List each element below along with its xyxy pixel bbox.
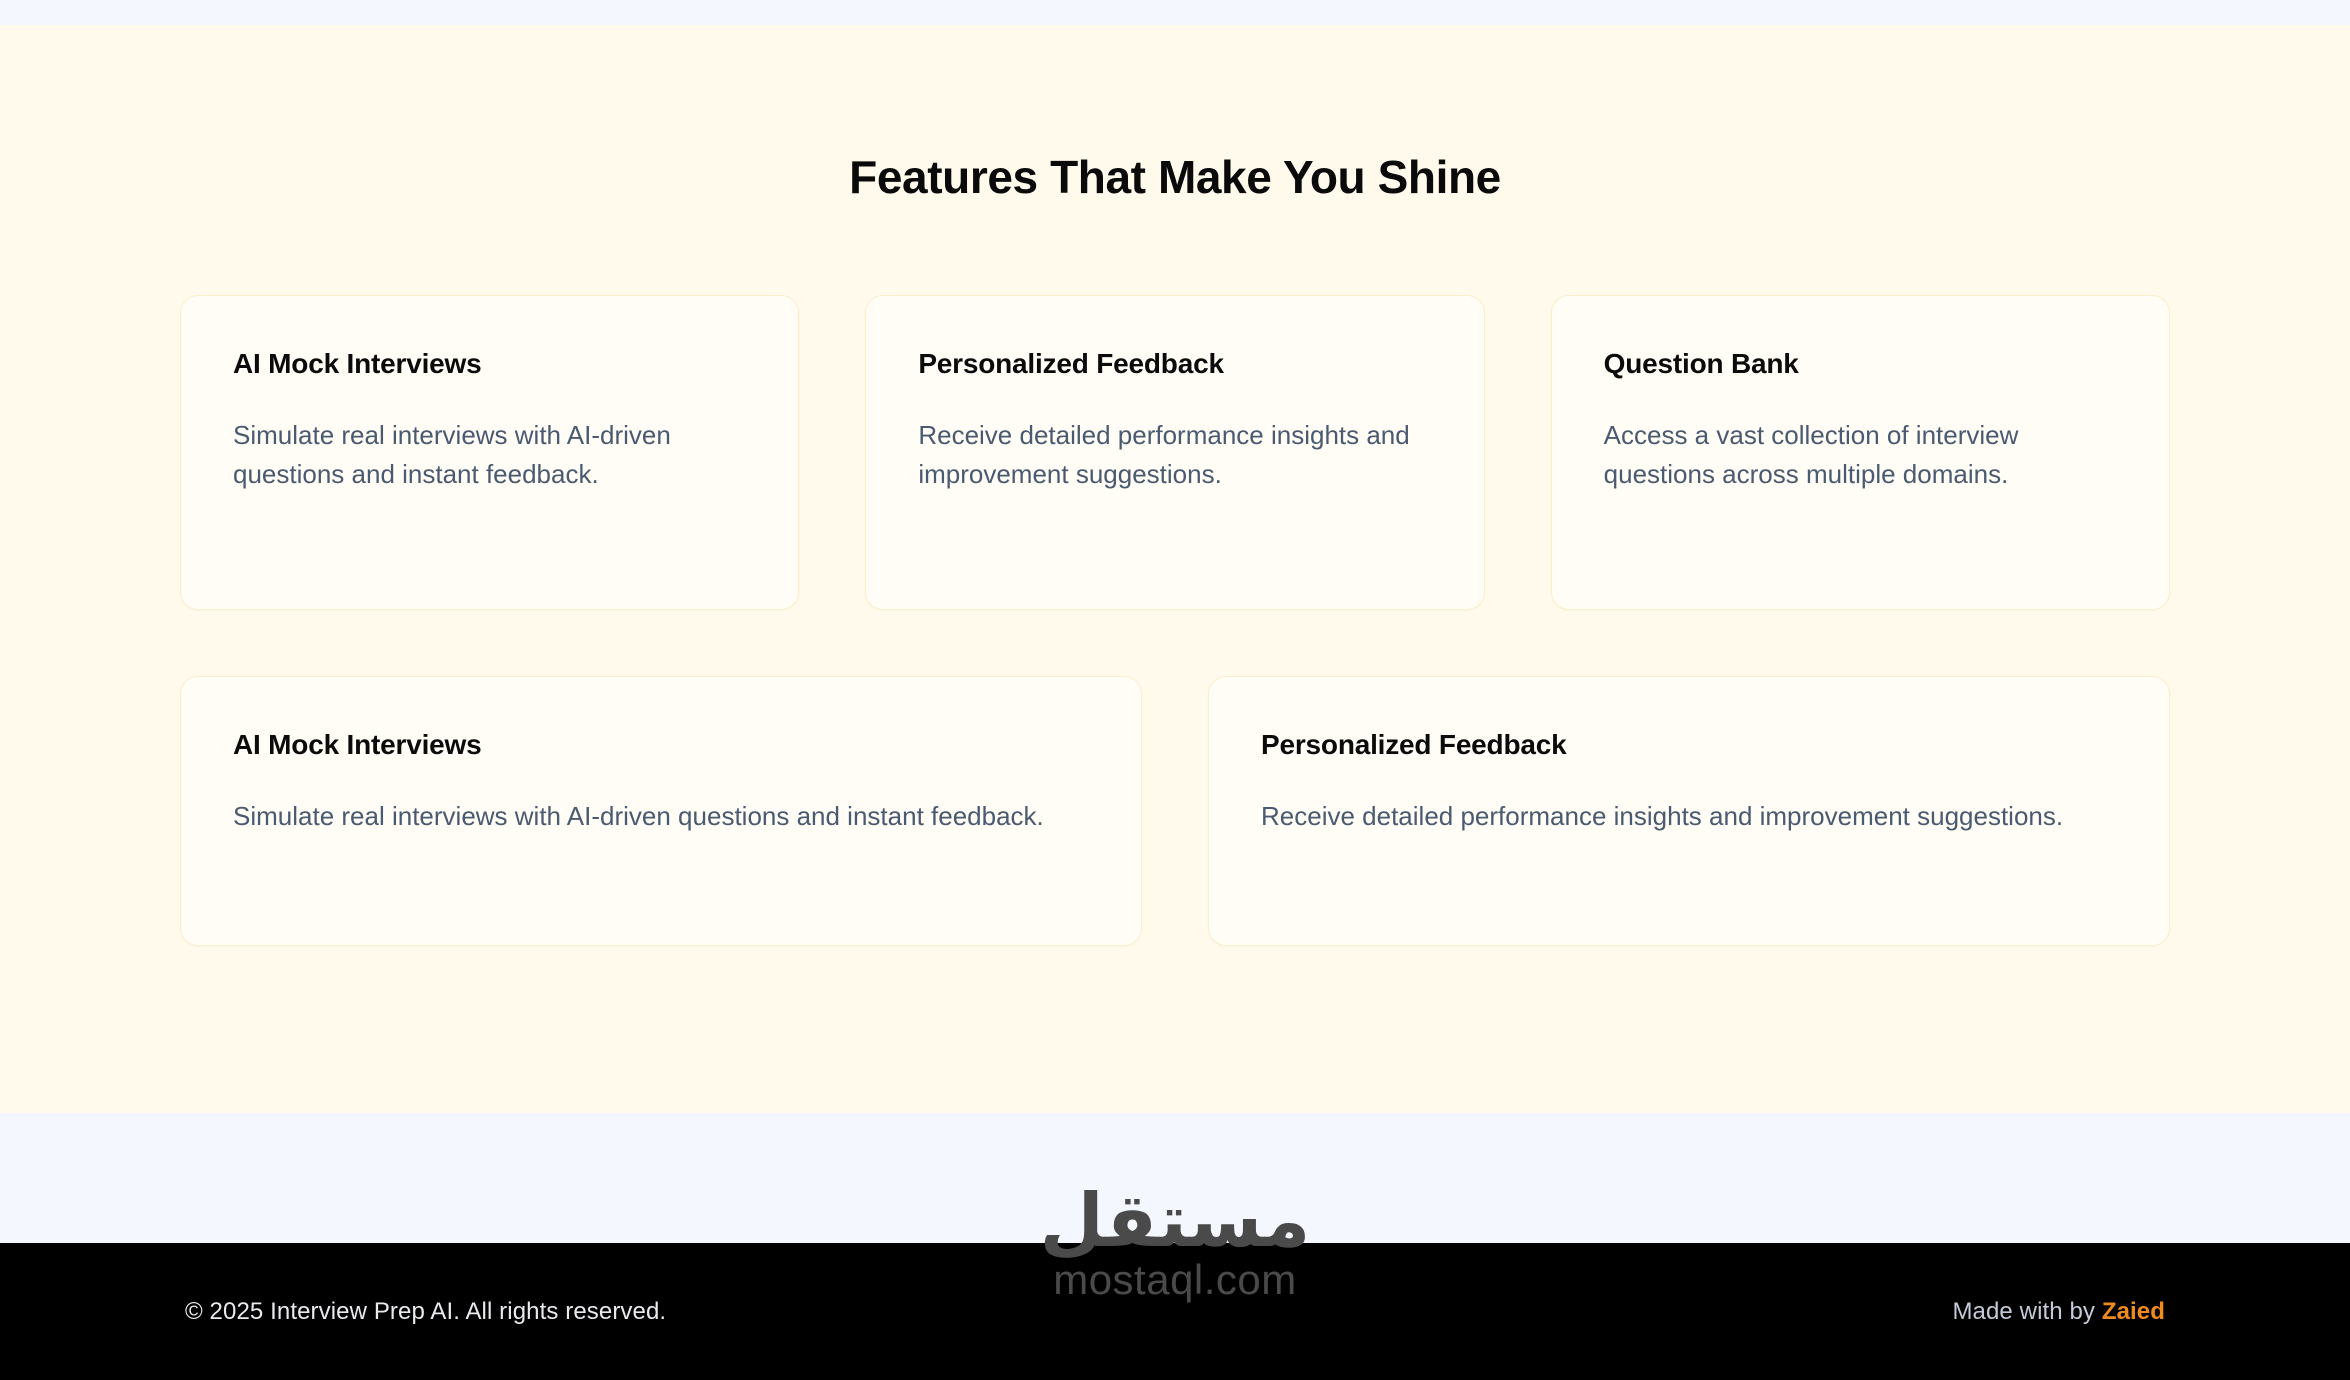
footer-author-link[interactable]: Zaied [2102,1298,2165,1325]
top-spacer-strip [0,0,2350,25]
feature-card-title: AI Mock Interviews [233,346,746,382]
footer-credit-prefix: Made with by [1952,1298,2101,1325]
feature-card-title: Personalized Feedback [1261,727,2117,763]
feature-card-title: Question Bank [1604,346,2117,382]
feature-row-1: AI Mock Interviews Simulate real intervi… [180,295,2170,610]
feature-card-personalized-feedback[interactable]: Personalized Feedback Receive detailed p… [865,295,1484,610]
page-root: Features That Make You Shine AI Mock Int… [0,0,2350,1380]
features-section: Features That Make You Shine AI Mock Int… [0,25,2350,1113]
site-footer: © 2025 Interview Prep AI. All rights res… [0,1243,2350,1380]
footer-credit: Made with by Zaied [1952,1298,2165,1326]
page-title: Features That Make You Shine [0,25,2350,205]
feature-card-question-bank[interactable]: Question Bank Access a vast collection o… [1551,295,2170,610]
feature-cards-container: AI Mock Interviews Simulate real intervi… [180,205,2170,946]
footer-copyright: © 2025 Interview Prep AI. All rights res… [185,1298,666,1326]
feature-card-description: Simulate real interviews with AI-driven … [233,797,1089,837]
feature-card-description: Receive detailed performance insights an… [1261,797,2117,837]
feature-card-title: Personalized Feedback [918,346,1431,382]
mostaql-latin-wordmark: mostaql.com [1053,1258,1297,1302]
feature-card-title: AI Mock Interviews [233,727,1089,763]
feature-row-2: AI Mock Interviews Simulate real intervi… [180,676,2170,946]
feature-card-ai-mock-interviews-wide[interactable]: AI Mock Interviews Simulate real intervi… [180,676,1142,946]
feature-card-description: Receive detailed performance insights an… [918,416,1431,495]
lower-spacer-band [0,1113,2350,1243]
feature-card-description: Access a vast collection of interview qu… [1604,416,2117,495]
feature-card-personalized-feedback-wide[interactable]: Personalized Feedback Receive detailed p… [1208,676,2170,946]
feature-card-ai-mock-interviews[interactable]: AI Mock Interviews Simulate real intervi… [180,295,799,610]
feature-card-description: Simulate real interviews with AI-driven … [233,416,746,495]
